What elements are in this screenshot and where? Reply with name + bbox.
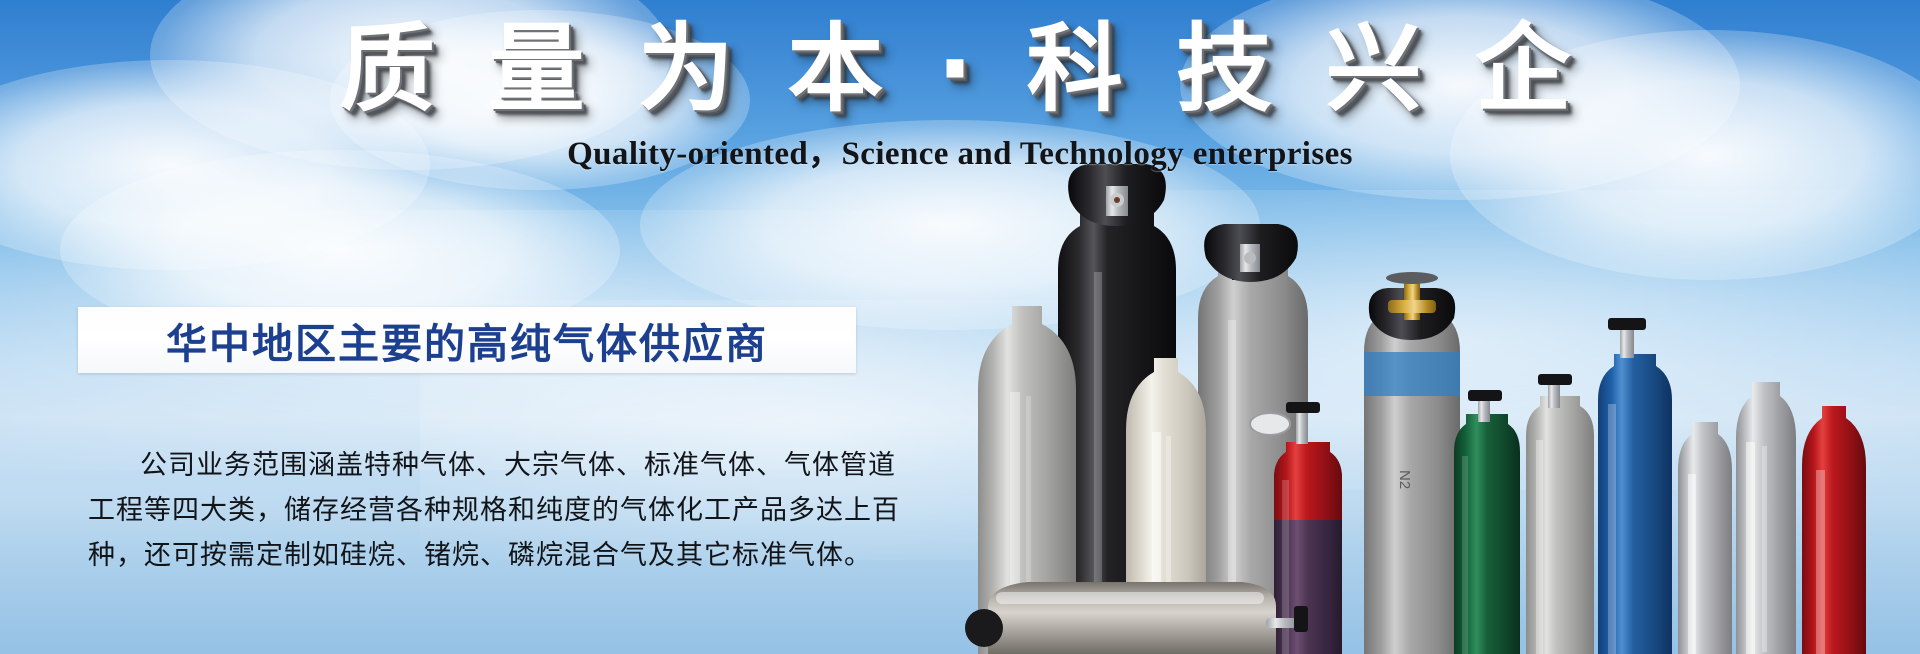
page-title: 质 量 为 本 · 科 技 兴 企: [339, 16, 1581, 124]
svg-text:N2: N2: [1396, 470, 1413, 489]
page-subtitle: Quality-oriented，Science and Technology …: [0, 126, 1920, 174]
paragraph-line: 工程等四大类，储存经营各种规格和纯度的气体化工产品多达上百: [88, 488, 858, 533]
cylinder-aluminium-tall: [1736, 382, 1796, 654]
cylinder-horizontal: [965, 582, 1308, 654]
cylinder-dark-green: [1454, 390, 1520, 654]
paragraph-line: 种，还可按需定制如硅烷、锗烷、磷烷混合气及其它标准气体。: [88, 533, 858, 578]
headline-block: 质 量 为 本 · 科 技 兴 企 Quality-oriented，Scien…: [0, 16, 1920, 174]
cylinder-red-right: [1802, 406, 1866, 654]
cylinder-blue-tall: [1598, 318, 1672, 654]
description-paragraph: 公司业务范围涵盖特种气体、大宗气体、标准气体、气体管道 工程等四大类，储存经营各…: [88, 443, 858, 578]
paragraph-line: 公司业务范围涵盖特种气体、大宗气体、标准气体、气体管道: [88, 443, 858, 488]
highlight-box-label: 华中地区主要的高纯气体供应商: [166, 310, 768, 370]
highlight-box: 华中地区主要的高纯气体供应商: [78, 307, 856, 373]
cylinder-aluminium-small: [1678, 422, 1732, 654]
promo-banner: 质 量 为 本 · 科 技 兴 企 Quality-oriented，Scien…: [0, 0, 1920, 654]
cylinder-grey-medium: [1526, 374, 1594, 654]
cylinder-blue-banded: N2: [1364, 272, 1460, 654]
